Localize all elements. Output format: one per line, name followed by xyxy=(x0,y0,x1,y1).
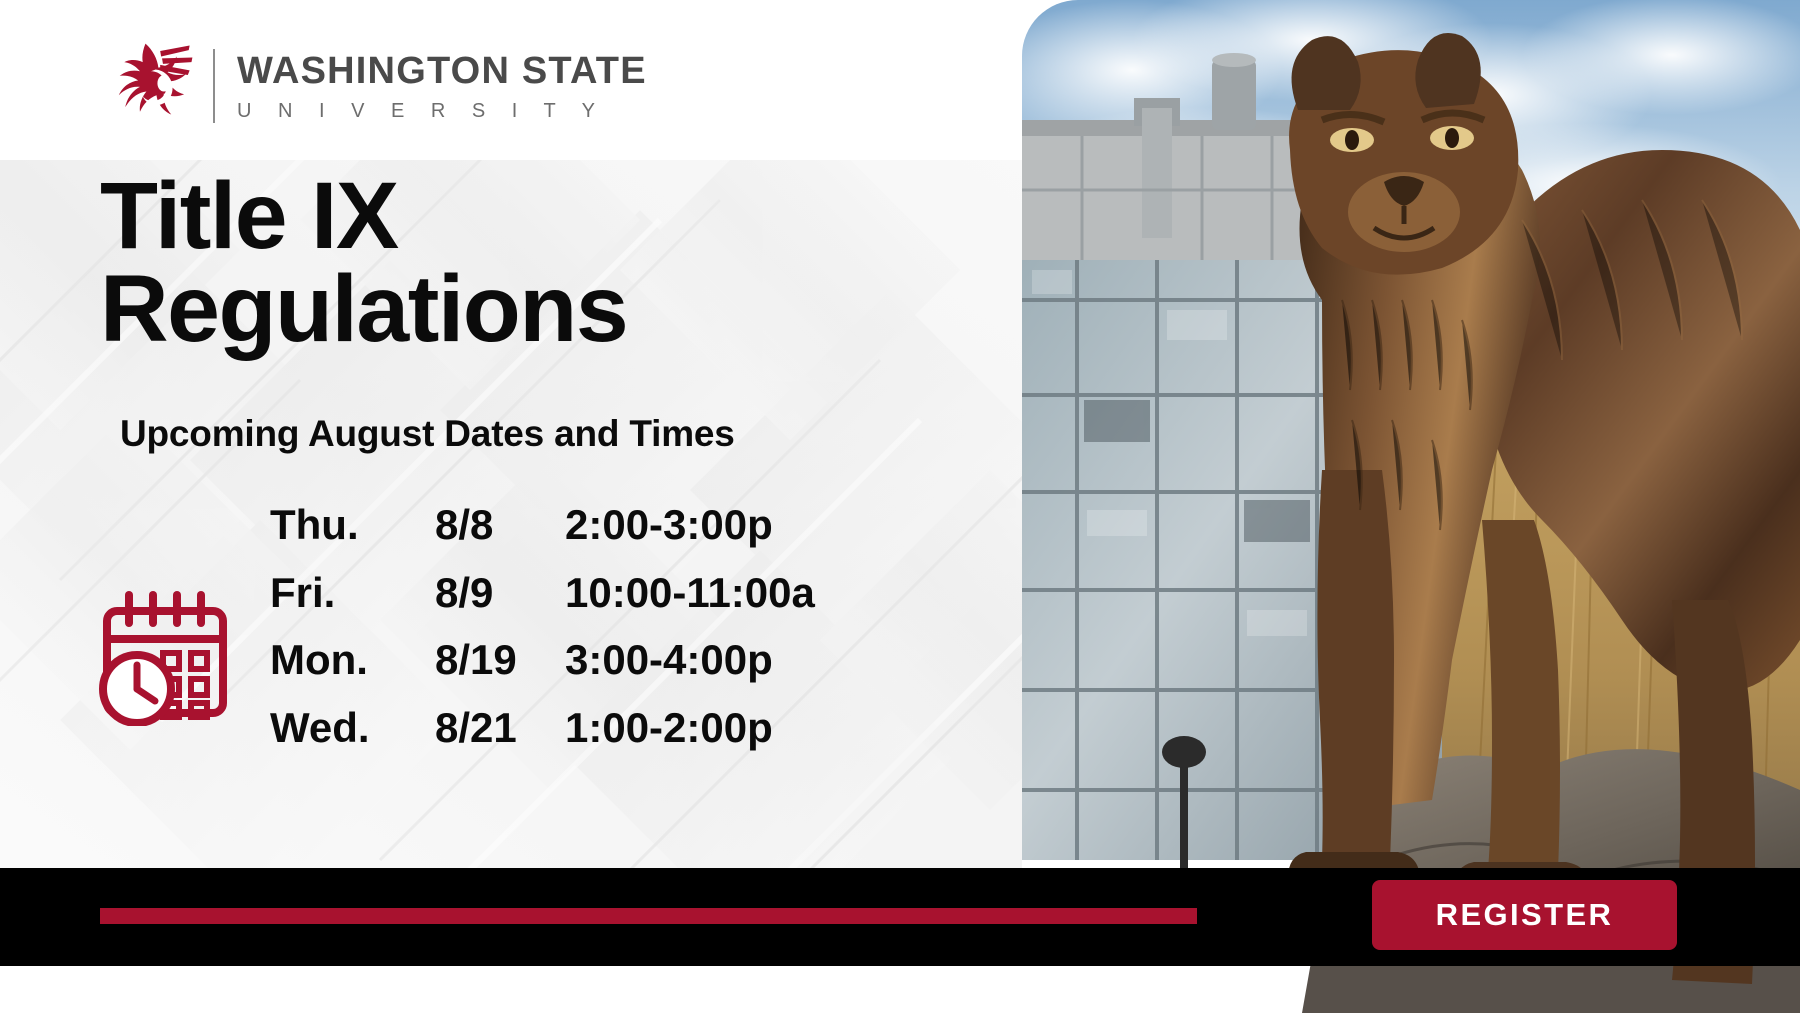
schedule-time: 2:00-3:00p xyxy=(565,495,815,563)
table-row: Wed. 8/21 1:00-2:00p xyxy=(270,698,815,766)
schedule-date: 8/9 xyxy=(435,563,565,631)
page-title-line1: Title IX xyxy=(100,163,398,269)
schedule-day: Mon. xyxy=(270,630,435,698)
left-content-panel: WASHINGTON STATE U N I V E R S I T Y Tit… xyxy=(0,0,1022,868)
wsu-logo: WASHINGTON STATE U N I V E R S I T Y xyxy=(105,40,647,132)
schedule-day: Thu. xyxy=(270,495,435,563)
register-button[interactable]: REGISTER xyxy=(1372,880,1677,950)
cougar-statue-photo xyxy=(1022,0,1800,1013)
page-title: Title IX Regulations xyxy=(100,170,920,356)
subheading: Upcoming August Dates and Times xyxy=(120,413,735,455)
table-row: Thu. 8/8 2:00-3:00p xyxy=(270,495,815,563)
schedule-date: 8/8 xyxy=(435,495,565,563)
schedule-time: 1:00-2:00p xyxy=(565,698,815,766)
schedule-day: Fri. xyxy=(270,563,435,631)
table-row: Fri. 8/9 10:00-11:00a xyxy=(270,563,815,631)
schedule-table: Thu. 8/8 2:00-3:00p Fri. 8/9 10:00-11:00… xyxy=(270,495,815,766)
schedule-block: Thu. 8/8 2:00-3:00p Fri. 8/9 10:00-11:00… xyxy=(95,495,895,766)
schedule-time: 3:00-4:00p xyxy=(565,630,815,698)
brand-name-line1: WASHINGTON STATE xyxy=(237,52,647,90)
schedule-day: Wed. xyxy=(270,698,435,766)
schedule-date: 8/21 xyxy=(435,698,565,766)
schedule-time: 10:00-11:00a xyxy=(565,563,815,631)
table-row: Mon. 8/19 3:00-4:00p xyxy=(270,630,815,698)
cougar-logo-icon xyxy=(105,40,197,132)
footer-divider-rule xyxy=(100,908,1197,924)
page-title-line2: Regulations xyxy=(100,263,920,356)
calendar-clock-icon xyxy=(95,581,235,726)
schedule-date: 8/19 xyxy=(435,630,565,698)
promo-banner: WASHINGTON STATE U N I V E R S I T Y Tit… xyxy=(0,0,1800,1013)
brand-name-line2: U N I V E R S I T Y xyxy=(237,101,647,121)
logo-divider xyxy=(213,49,215,123)
